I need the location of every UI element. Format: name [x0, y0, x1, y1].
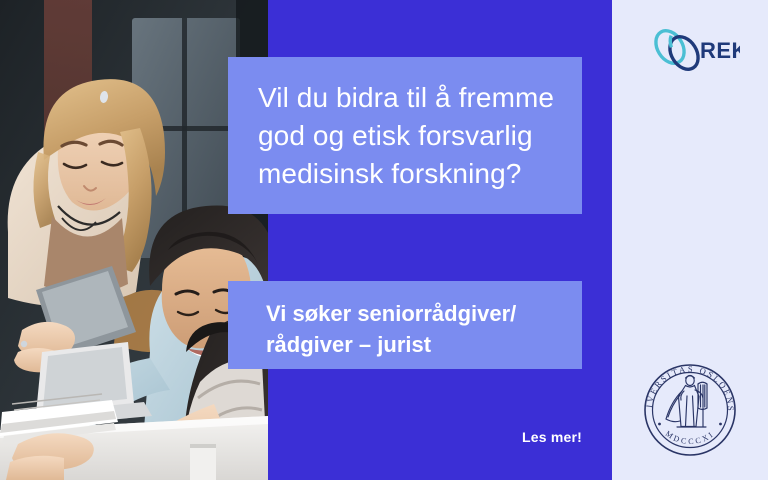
headline-card: Vil du bidra til å fremme god og etisk f…: [228, 57, 582, 214]
apollo-with-lyre-icon: [666, 376, 707, 428]
uio-seal: UNIVERSITAS OSLOENSIS MDCCCXI: [640, 360, 740, 460]
rek-wordmark: REK: [700, 38, 740, 63]
recruitment-banner: Vil du bidra til å fremme god og etisk f…: [0, 0, 768, 480]
rek-logo[interactable]: REK: [648, 26, 740, 74]
headline-line-1: Vil du bidra til å fremme: [258, 79, 556, 117]
role-line-2: rådgiver – jurist: [266, 329, 556, 360]
read-more-link[interactable]: Les mer!: [470, 429, 582, 445]
headline-line-3: medisinsk forskning?: [258, 155, 556, 193]
role-line-1: Vi søker seniorrådgiver/: [266, 298, 556, 329]
interlocking-rings-icon: [650, 26, 704, 74]
headline-line-2: god og etisk forsvarlig: [258, 117, 556, 155]
role-card: Vi søker seniorrådgiver/ rådgiver – juri…: [228, 281, 582, 369]
seal-year-text: MDCCCXI: [664, 429, 717, 446]
